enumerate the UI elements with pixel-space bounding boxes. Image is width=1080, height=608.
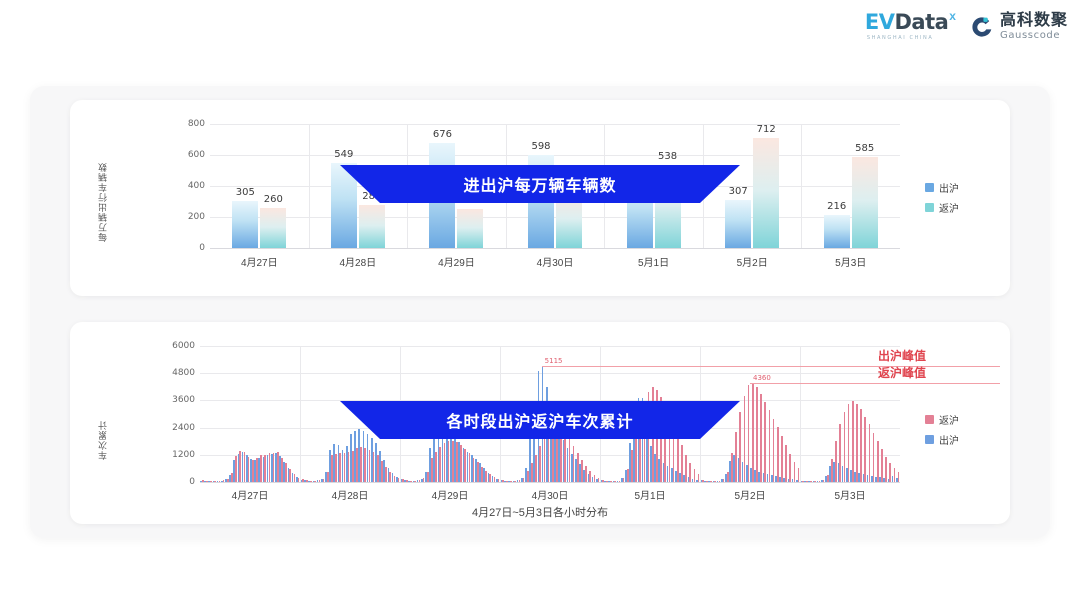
evdata-logo-text: EVData xyxy=(865,12,948,33)
category-separator xyxy=(309,124,310,248)
chart-daily-vehicles-ylabel: 每万辆出行车辆数 xyxy=(96,130,109,242)
legend-item-出沪[interactable]: 出沪 xyxy=(925,432,959,447)
y-axis-tick: 800 xyxy=(188,119,205,129)
bar-value-label: 549 xyxy=(334,149,353,160)
x-axis-tick: 5月2日 xyxy=(734,487,765,502)
legend-label: 出沪 xyxy=(939,180,959,195)
bar-fanhu: 280 xyxy=(359,205,385,248)
hour-bar-fanhu xyxy=(860,409,862,482)
chart-hourly-trips-legend: 返沪出沪 xyxy=(925,412,959,447)
y-axis-tick: 0 xyxy=(189,477,195,487)
bar-fanhu: 712 xyxy=(753,138,779,248)
y-axis-tick: 0 xyxy=(199,243,205,253)
bar-chuhu: 216 xyxy=(824,215,850,248)
x-axis-tick: 4月29日 xyxy=(432,487,469,502)
x-axis-tick: 4月30日 xyxy=(537,254,574,269)
y-axis-tick: 400 xyxy=(188,181,205,191)
gausscode-logo-en: Gausscode xyxy=(1000,31,1068,41)
y-axis-tick: 1200 xyxy=(172,450,195,460)
day-separator xyxy=(300,346,301,482)
bar-fanhu: 585 xyxy=(852,157,878,248)
bar-value-label: 676 xyxy=(433,129,452,140)
chart-hourly-trips-xlabel: 4月27日~5月3日各小时分布 xyxy=(70,504,1010,520)
legend-label: 返沪 xyxy=(939,200,959,215)
evdata-logo: EVData x SHANGHAI CHINA xyxy=(865,12,956,41)
x-axis-tick: 4月30日 xyxy=(532,487,569,502)
annotation-label-返沪峰值: 返沪峰值 xyxy=(878,364,926,381)
hour-bar-fanhu xyxy=(781,436,783,482)
hour-bar-fanhu xyxy=(760,394,762,482)
category-separator xyxy=(801,124,802,248)
y-axis-tick: 6000 xyxy=(172,341,195,351)
hour-bar-fanhu xyxy=(898,472,900,482)
bar-value-label: 598 xyxy=(531,141,550,152)
bar-value-label: 712 xyxy=(757,124,776,135)
x-axis-tick: 5月3日 xyxy=(835,254,866,269)
gausscode-mark-icon xyxy=(970,15,994,39)
bar-value-label: 216 xyxy=(827,201,846,212)
evdata-logo-tagline: SHANGHAI CHINA xyxy=(867,35,934,41)
evdata-logo-wordmark: EVData x xyxy=(865,12,956,33)
bar-value-label: 305 xyxy=(236,187,255,198)
y-axis-tick: 600 xyxy=(188,150,205,160)
x-axis-tick: 4月28日 xyxy=(340,254,377,269)
gridline xyxy=(210,155,900,156)
x-axis-tick: 5月1日 xyxy=(638,254,669,269)
legend-swatch xyxy=(925,415,934,424)
gridline xyxy=(200,346,900,347)
hour-bar-fanhu xyxy=(852,401,854,482)
bar-fanhu: 260 xyxy=(260,208,286,248)
bar-chuhu: 307 xyxy=(725,200,751,248)
evdata-logo-superscript: x xyxy=(949,9,956,23)
dashboard-page: EVData x SHANGHAI CHINA 高科数聚 Gausscode 0… xyxy=(0,0,1080,608)
annotation-line-出沪峰值 xyxy=(542,366,1000,367)
x-axis-tick: 5月3日 xyxy=(834,487,865,502)
x-axis-line xyxy=(210,248,900,249)
evdata-logo-data: Data xyxy=(894,10,948,34)
x-axis-line xyxy=(200,482,900,483)
chart-daily-vehicles-title: 进出沪每万辆车辆数 xyxy=(340,165,740,203)
x-axis-tick: 4月28日 xyxy=(332,487,369,502)
x-axis-tick: 4月29日 xyxy=(438,254,475,269)
y-axis-tick: 4800 xyxy=(172,368,195,378)
bar-value-label: 260 xyxy=(264,194,283,205)
hour-bar-fanhu xyxy=(856,404,858,482)
legend-label: 出沪 xyxy=(939,432,959,447)
hour-bar-fanhu xyxy=(769,410,771,482)
hour-bar-fanhu xyxy=(873,433,875,482)
y-axis-tick: 3600 xyxy=(172,395,195,405)
hour-bar-fanhu xyxy=(773,419,775,482)
annotation-label-出沪峰值: 出沪峰值 xyxy=(878,347,926,364)
gridline xyxy=(210,217,900,218)
hour-bar-fanhu xyxy=(777,427,779,482)
annotation-line-返沪峰值 xyxy=(750,383,1000,384)
header-logos: EVData x SHANGHAI CHINA 高科数聚 Gausscode xyxy=(865,12,1068,41)
x-axis-tick: 5月2日 xyxy=(737,254,768,269)
hour-bar-fanhu xyxy=(869,424,871,482)
hour-bar-fanhu xyxy=(794,462,796,482)
y-axis-tick: 200 xyxy=(188,212,205,222)
bar-value-label: 585 xyxy=(855,143,874,154)
gausscode-logo-text: 高科数聚 Gausscode xyxy=(1000,13,1068,41)
bar-chuhu: 305 xyxy=(232,201,258,248)
gridline xyxy=(210,124,900,125)
legend-item-返沪[interactable]: 返沪 xyxy=(925,200,959,215)
hour-bar-fanhu xyxy=(785,445,787,482)
legend-swatch xyxy=(925,183,934,192)
chart-hourly-trips-title: 各时段出沪返沪车次累计 xyxy=(340,401,740,439)
hour-bar-fanhu xyxy=(752,383,754,482)
x-axis-tick: 4月27日 xyxy=(232,487,269,502)
legend-swatch xyxy=(925,203,934,212)
gausscode-logo-cn: 高科数聚 xyxy=(1000,13,1068,29)
chart-daily-vehicles-legend: 出沪返沪 xyxy=(925,180,959,215)
dashboard-shell: 02004006008004月27日3052604月28日5492804月29日… xyxy=(30,86,1050,538)
hour-bar-fanhu xyxy=(764,402,766,482)
hour-bar-fanhu xyxy=(864,417,866,482)
bar-fanhu: 249 xyxy=(457,209,483,248)
evdata-logo-ev: EV xyxy=(865,10,895,34)
x-axis-tick: 4月27日 xyxy=(241,254,278,269)
hour-bar-fanhu xyxy=(877,441,879,482)
legend-label: 返沪 xyxy=(939,412,959,427)
bar-value-label: 307 xyxy=(729,186,748,197)
gausscode-logo: 高科数聚 Gausscode xyxy=(970,13,1068,41)
y-axis-tick: 2400 xyxy=(172,423,195,433)
chart-hourly-trips-ylabel: 车次累计 xyxy=(96,368,109,460)
hour-bar-fanhu xyxy=(789,454,791,482)
hour-bar-fanhu xyxy=(756,387,758,482)
annotation-value-返沪峰值: 4360 xyxy=(753,374,771,382)
bar-value-label: 538 xyxy=(658,151,677,162)
annotation-value-出沪峰值: 5115 xyxy=(545,357,563,365)
legend-item-出沪[interactable]: 出沪 xyxy=(925,180,959,195)
x-axis-tick: 5月1日 xyxy=(634,487,665,502)
gridline xyxy=(200,373,900,374)
legend-swatch xyxy=(925,435,934,444)
legend-item-返沪[interactable]: 返沪 xyxy=(925,412,959,427)
